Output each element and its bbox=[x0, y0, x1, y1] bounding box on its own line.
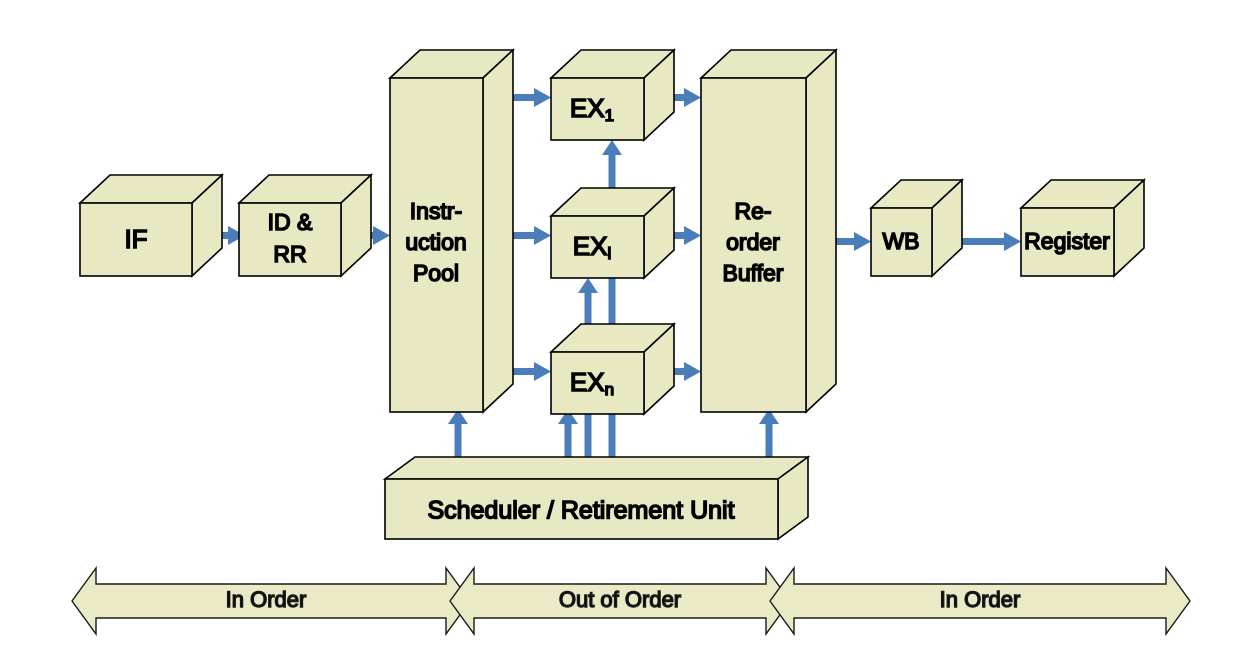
stage-label-if: IF bbox=[124, 224, 147, 254]
stage-label-wb: WB bbox=[882, 228, 919, 254]
scheduler-box[interactable]: Scheduler / Retirement Unit bbox=[385, 457, 808, 539]
box-side-face bbox=[483, 50, 513, 412]
order-band-label: In Order bbox=[226, 587, 307, 612]
stage-box-register[interactable]: Register bbox=[1021, 180, 1144, 276]
stage-box-exi[interactable]: EXi bbox=[551, 188, 674, 278]
scheduler-label: Scheduler / Retirement Unit bbox=[427, 497, 734, 525]
stage-label-rob-line1: Re- bbox=[734, 198, 771, 224]
pipeline-diagram: IF ID & RR Instr- uction Pool EX1 bbox=[0, 0, 1249, 661]
stage-label-pool-line2: uction bbox=[405, 229, 466, 255]
order-band-label: Out of Order bbox=[559, 587, 681, 612]
stage-label-id-rr-line2: RR bbox=[273, 241, 306, 267]
stage-box-ex1[interactable]: EX1 bbox=[551, 50, 674, 140]
stage-label-rob-line3: Buffer bbox=[723, 260, 784, 286]
box-top-face bbox=[385, 457, 808, 479]
stage-label-pool-line3: Pool bbox=[413, 260, 459, 286]
stage-box-id-rr[interactable]: ID & RR bbox=[239, 175, 371, 276]
stage-label-rob-line2: order bbox=[726, 229, 780, 255]
stage-box-reorder-buffer[interactable]: Re- order Buffer bbox=[701, 50, 836, 412]
stage-box-wb[interactable]: WB bbox=[871, 180, 962, 276]
stage-label-register: Register bbox=[1024, 228, 1110, 254]
stage-box-exn[interactable]: EXn bbox=[551, 324, 674, 414]
stage-label-exi: EXi bbox=[573, 231, 611, 264]
stage-label-pool-line1: Instr- bbox=[410, 198, 462, 224]
box-side-face bbox=[806, 50, 836, 412]
stage-box-instruction-pool[interactable]: Instr- uction Pool bbox=[390, 50, 513, 412]
stage-box-if[interactable]: IF bbox=[80, 175, 222, 276]
stage-label-id-rr-line1: ID & bbox=[268, 209, 313, 235]
order-band-label: In Order bbox=[940, 587, 1021, 612]
